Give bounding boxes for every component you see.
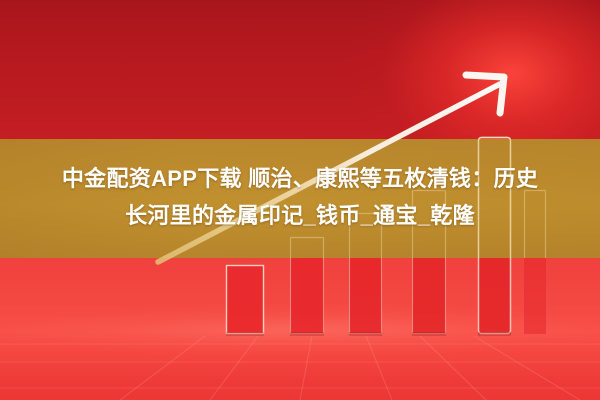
title-line-1: 中金配资APP下载 顺治、康熙等五枚清钱：历史 <box>0 160 600 197</box>
banner-title: 中金配资APP下载 顺治、康熙等五枚清钱：历史 长河里的金属印记_钱币_通宝_乾… <box>0 160 600 234</box>
background-floor <box>0 258 600 400</box>
promo-banner: 中金配资APP下载 顺治、康熙等五枚清钱：历史 长河里的金属印记_钱币_通宝_乾… <box>0 0 600 400</box>
title-line-2: 长河里的金属印记_钱币_通宝_乾隆 <box>0 197 600 234</box>
